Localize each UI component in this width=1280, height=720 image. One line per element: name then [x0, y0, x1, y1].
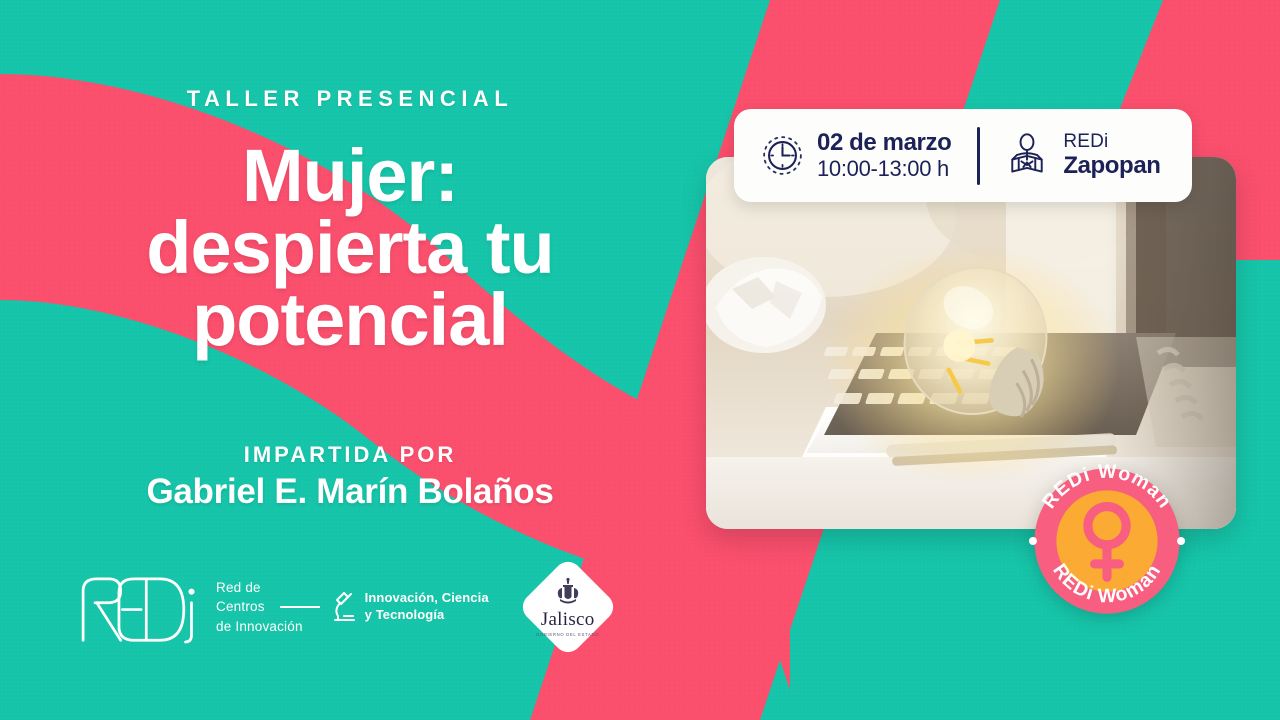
person-with-map-icon: [1004, 132, 1050, 178]
event-date: 02 de marzo: [817, 130, 951, 157]
jalisco-subtitle: GOBIERNO DEL ESTADO: [536, 632, 599, 637]
redi-logo: Red de Centros de Innovación: [78, 567, 303, 647]
ict-label-line-1: Innovación, Ciencia: [365, 590, 489, 605]
redi-woman-seal: REDi Woman REDi Woman: [1021, 455, 1193, 627]
venue-text: REDi Zapopan: [1063, 131, 1160, 179]
jalisco-name: Jalisco: [541, 609, 595, 631]
seal-dot-right: [1177, 537, 1185, 545]
redi-tagline-line-3: de Innovación: [216, 617, 303, 637]
ict-label: Innovación, Ciencia y Tecnología: [365, 590, 489, 624]
redi-outline-wordmark-icon: [78, 567, 206, 647]
clock-icon: [761, 134, 804, 177]
venue-brand: REDi: [1063, 131, 1160, 152]
title-line-3: potencial: [0, 284, 700, 356]
venue-city: Zapopan: [1063, 153, 1160, 180]
title-line-1: Mujer:: [0, 140, 700, 212]
redi-tagline: Red de Centros de Innovación: [216, 578, 303, 637]
jalisco-content: Jalisco GOBIERNO DEL ESTADO: [519, 558, 617, 656]
jalisco-logo: Jalisco GOBIERNO DEL ESTADO: [519, 558, 617, 656]
ict-logo: Innovación, Ciencia y Tecnología: [331, 590, 489, 624]
page-title: Mujer: despierta tu potencial: [0, 140, 700, 355]
venue-section: REDi Zapopan: [980, 131, 1160, 179]
redi-tagline-line-1: Red de: [216, 578, 303, 598]
logo-strip: Red de Centros de Innovación Innovación,…: [78, 552, 638, 662]
title-line-2: despierta tu: [0, 212, 700, 284]
presenter-name: Gabriel E. Marín Bolaños: [0, 472, 700, 512]
event-poster: TALLER PRESENCIAL Mujer: despierta tu po…: [0, 0, 1280, 720]
date-time-section: 02 de marzo 10:00-13:00 h: [734, 130, 951, 182]
coat-of-arms-icon: [553, 577, 583, 607]
microscope-icon: [331, 590, 357, 624]
presenter-label: IMPARTIDA POR: [0, 442, 700, 468]
date-time-text: 02 de marzo 10:00-13:00 h: [817, 130, 951, 182]
ict-label-line-2: y Tecnología: [365, 607, 445, 622]
redi-tagline-line-2: Centros: [216, 597, 303, 617]
seal-dot-left: [1029, 537, 1037, 545]
kicker-label: TALLER PRESENCIAL: [0, 86, 700, 112]
event-time: 10:00-13:00 h: [817, 157, 951, 182]
event-info-badge: 02 de marzo 10:00-13:00 h: [734, 109, 1192, 202]
